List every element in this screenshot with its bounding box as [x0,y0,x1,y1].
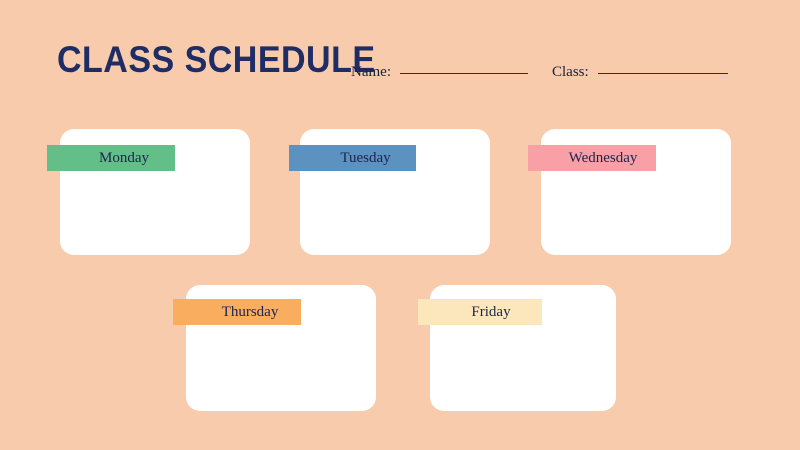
day-banner-wednesday[interactable]: Wednesday [528,145,656,171]
day-banner-thursday[interactable]: Thursday [173,299,301,325]
class-field-line[interactable] [598,73,728,74]
day-label-monday: Monday [99,145,149,171]
class-field[interactable]: Class: [552,64,728,81]
day-banner-monday[interactable]: Monday [47,145,175,171]
day-label-friday: Friday [471,299,510,325]
class-field-label: Class: [552,64,589,81]
day-banner-friday[interactable]: Friday [418,299,542,325]
page-title: CLASS SCHEDULE [57,40,376,80]
day-label-thursday: Thursday [222,299,279,325]
name-field-label: Name: [351,64,391,81]
name-field[interactable]: Name: [351,64,528,81]
name-field-line[interactable] [400,73,528,74]
day-label-tuesday: Tuesday [340,145,390,171]
day-banner-tuesday[interactable]: Tuesday [289,145,416,171]
slide-canvas: CLASS SCHEDULE Name: Class: Monday Tuesd… [0,0,800,450]
day-label-wednesday: Wednesday [569,145,638,171]
